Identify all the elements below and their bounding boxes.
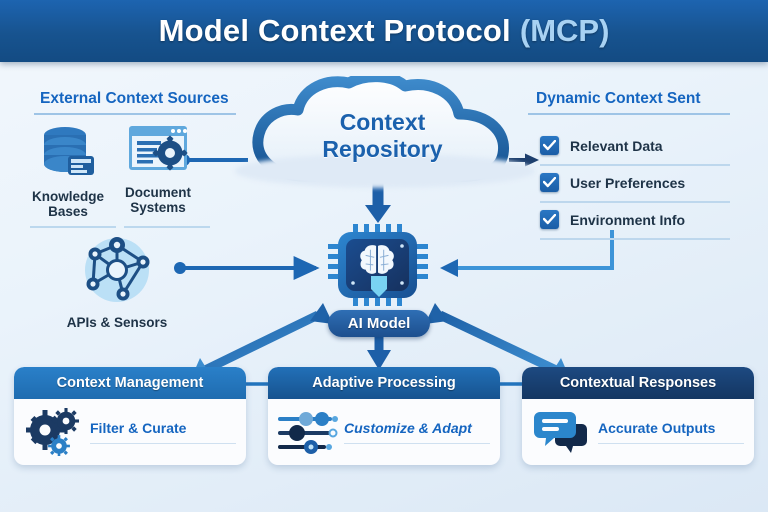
source-label: Knowledge Bases [20, 189, 116, 219]
chat-bubbles-icon [532, 410, 594, 454]
source-apis-sensors[interactable]: APIs & Sensors [62, 236, 172, 330]
source-document-systems[interactable]: Document Systems [110, 124, 206, 215]
ai-model-pill[interactable]: AI Model [328, 310, 430, 337]
source-divider-left [30, 226, 116, 228]
card-contextual-responses[interactable]: Contextual Responses Accurate Outputs [522, 367, 754, 465]
checklist-rule-1 [540, 164, 730, 166]
card-caption: Customize & Adapt [344, 420, 490, 436]
page-title-accent: (MCP) [520, 13, 610, 49]
card-caption-wrap: Filter & Curate [86, 420, 236, 445]
card-caption-wrap: Accurate Outputs [594, 420, 744, 445]
card-context-management[interactable]: Context Management [14, 367, 246, 465]
card-caption: Filter & Curate [90, 420, 236, 436]
right-panel-rule [528, 113, 730, 115]
checklist-item-user-preferences[interactable]: User Preferences [540, 173, 685, 192]
check-icon [540, 173, 559, 192]
sliders-icon [278, 410, 340, 454]
context-repository-cloud[interactable]: Context Repository [245, 76, 520, 194]
ai-chip[interactable] [328, 224, 428, 306]
card-body: Filter & Curate [14, 399, 246, 465]
card-adaptive-processing[interactable]: Adaptive Processing [268, 367, 500, 465]
database-icon [38, 124, 98, 180]
card-caption-rule [90, 443, 236, 445]
card-caption-rule [344, 443, 490, 445]
check-icon [540, 136, 559, 155]
ai-model-label: AI Model [348, 315, 411, 332]
card-title: Contextual Responses [560, 375, 716, 391]
diagram-canvas: Model Context Protocol (MCP) [0, 0, 768, 512]
source-knowledge-bases[interactable]: Knowledge Bases [20, 124, 116, 219]
card-caption-wrap: Customize & Adapt [340, 420, 490, 445]
checklist-label: Relevant Data [570, 138, 663, 154]
source-divider-right [124, 226, 210, 228]
source-label: APIs & Sensors [62, 315, 172, 330]
network-nodes-icon [75, 236, 159, 306]
checklist-rule-3 [540, 238, 730, 240]
checklist-item-environment-info[interactable]: Environment Info [540, 210, 685, 229]
card-title: Context Management [57, 375, 204, 391]
page-title: Model Context Protocol [159, 13, 511, 49]
ai-chip-brain-icon [328, 224, 428, 306]
card-caption-rule [598, 443, 744, 445]
checklist-rule-2 [540, 201, 730, 203]
check-icon [540, 210, 559, 229]
card-header: Adaptive Processing [268, 367, 500, 399]
gears-icon [24, 408, 86, 456]
connector-apis-to-chip [174, 262, 316, 274]
card-body: Accurate Outputs [522, 399, 754, 465]
card-body: Customize & Adapt [268, 399, 500, 465]
checklist-label: Environment Info [570, 212, 685, 228]
card-header: Contextual Responses [522, 367, 754, 399]
source-label: Document Systems [110, 185, 206, 215]
checklist-label: User Preferences [570, 175, 685, 191]
cloud-label: Context Repository [245, 109, 520, 163]
card-title: Adaptive Processing [312, 375, 455, 391]
checklist-item-relevant-data[interactable]: Relevant Data [540, 136, 663, 155]
document-gear-icon [127, 124, 189, 176]
right-panel-heading: Dynamic Context Sent [536, 90, 701, 108]
card-header: Context Management [14, 367, 246, 399]
page-header: Model Context Protocol (MCP) [0, 0, 768, 62]
card-caption: Accurate Outputs [598, 420, 744, 436]
left-panel-heading: External Context Sources [40, 90, 229, 108]
left-panel-rule [34, 113, 236, 115]
connector-model-middle-card [367, 336, 391, 370]
